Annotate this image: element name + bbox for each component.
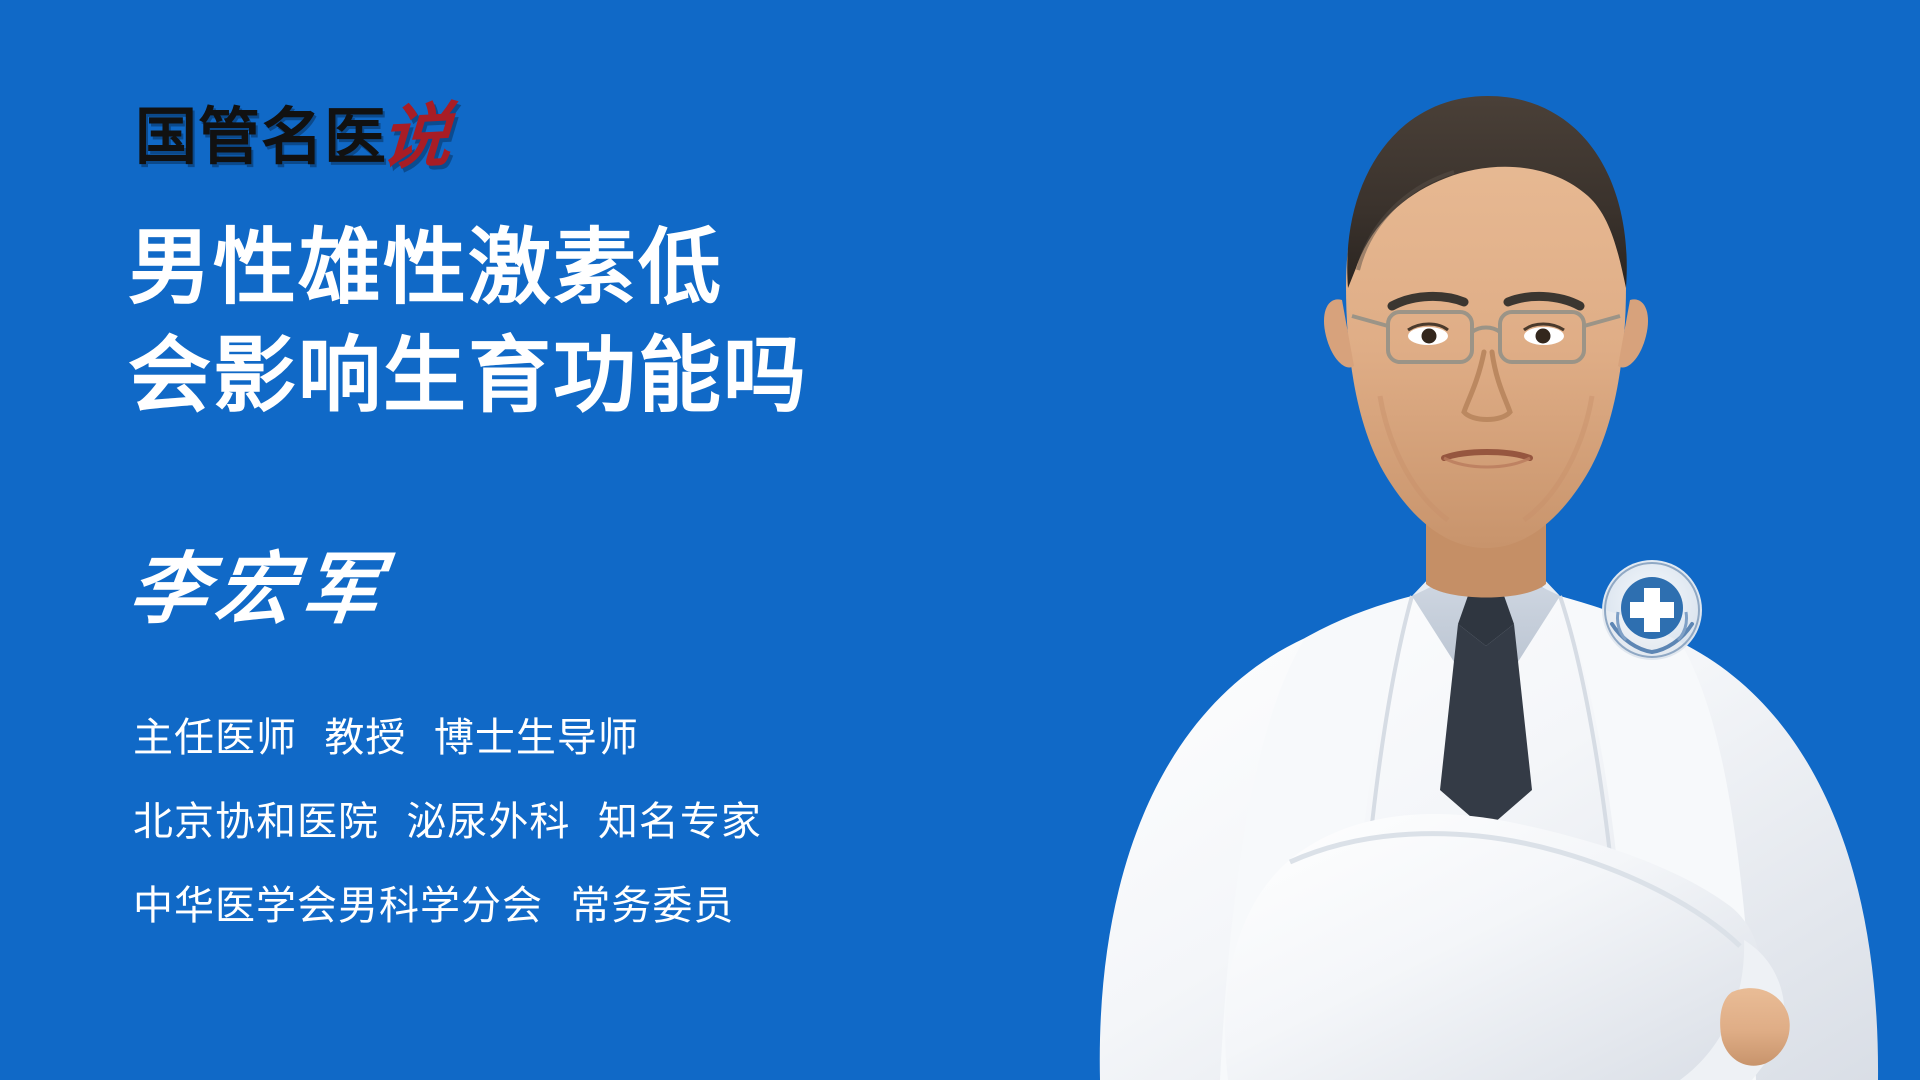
title-line-2: 会影响生育功能吗 xyxy=(128,322,808,430)
brand-logo-accent-text: 说 xyxy=(379,104,453,170)
poster-canvas: 国管名医 说 男性雄性激素低 会影响生育功能吗 李宏军 主任医师 教授 博士生导… xyxy=(0,0,1920,1080)
doctor-name: 李宏军 xyxy=(125,546,394,634)
doctor-portrait-image xyxy=(1040,0,1920,1080)
title-line-1: 男性雄性激素低 xyxy=(128,214,808,322)
poster-title: 男性雄性激素低 会影响生育功能吗 xyxy=(128,214,808,430)
brand-logo-main-text: 国管名医 xyxy=(135,106,387,168)
eyeglasses-icon xyxy=(1352,312,1620,362)
doctor-credentials: 主任医师 教授 博士生导师 北京协和医院 泌尿外科 知名专家 中华医学会男科学分… xyxy=(133,696,762,948)
credential-line-3: 中华医学会男科学分会 常务委员 xyxy=(133,864,762,948)
portrait-crossed-arms xyxy=(1225,814,1790,1080)
hospital-emblem-badge xyxy=(1602,560,1702,660)
credential-line-2: 北京协和医院 泌尿外科 知名专家 xyxy=(133,780,762,864)
brand-logo: 国管名医 说 xyxy=(135,96,451,168)
portrait-body xyxy=(1100,556,1878,1080)
credential-line-1: 主任医师 教授 博士生导师 xyxy=(133,696,762,780)
portrait-head xyxy=(1324,96,1648,548)
